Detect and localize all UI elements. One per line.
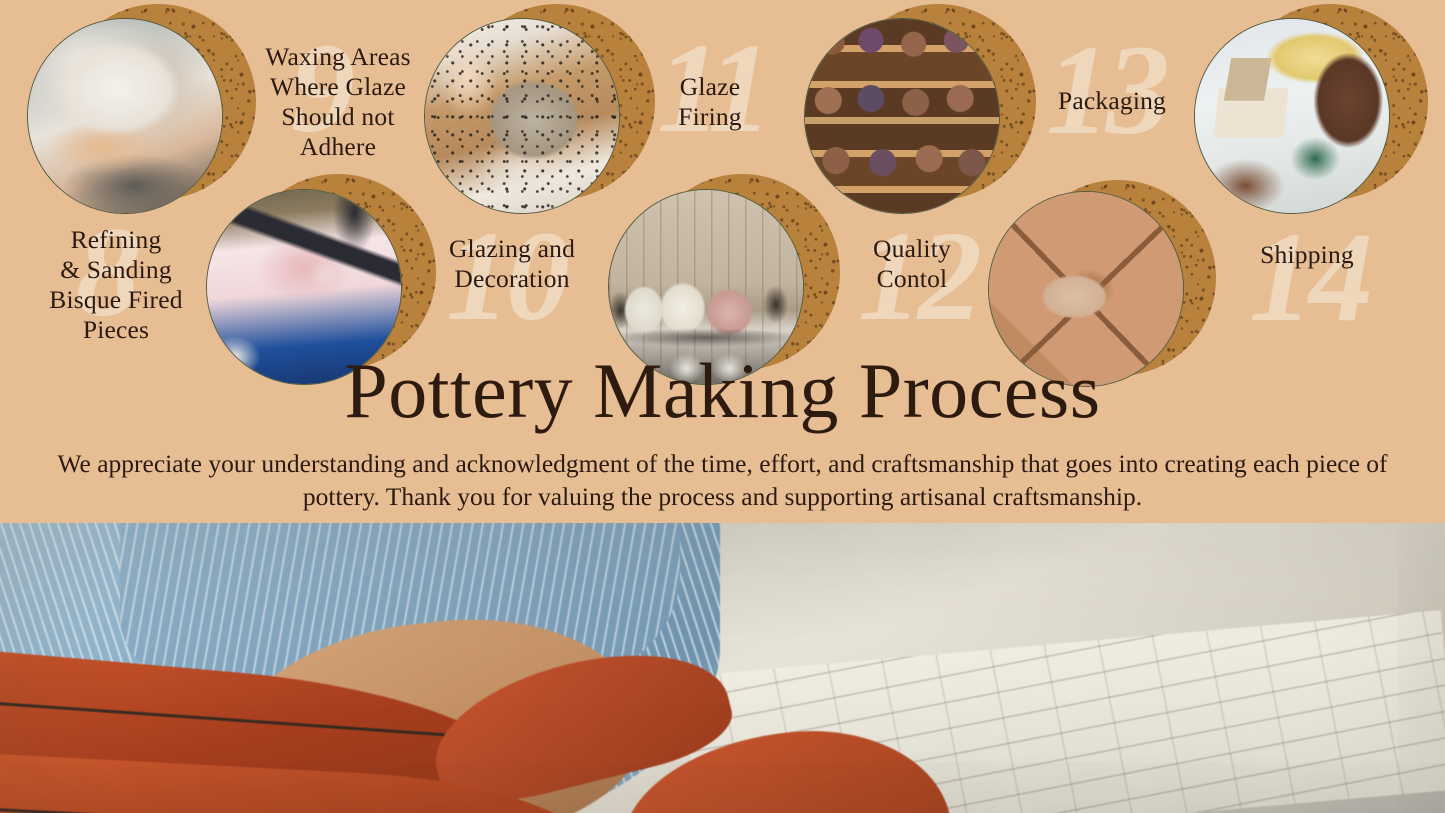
step-photo-glaze-firing xyxy=(424,18,620,214)
hero-photo-kiln-gloves xyxy=(0,523,1445,813)
footer-paragraph: We appreciate your understanding and ack… xyxy=(26,448,1419,513)
step-label-quality: Quality Contol xyxy=(828,234,996,294)
step-label-glaze-firing: Glaze Firing xyxy=(630,72,790,132)
step-label-waxing: Waxing Areas Where Glaze Should not Adhe… xyxy=(243,42,433,162)
step-photo-waxing xyxy=(27,18,223,214)
step-label-refining: Refining & Sanding Bisque Fired Pieces xyxy=(18,225,214,345)
infographic-top-area: 9 Waxing Areas Where Glaze Should not Ad… xyxy=(0,0,1445,523)
step-photo-packaging xyxy=(804,18,1000,214)
page-title: Pottery Making Process xyxy=(0,352,1445,430)
step-number-14: 14 xyxy=(1249,213,1369,341)
step-label-shipping: Shipping xyxy=(1214,240,1400,270)
pottery-process-poster: 9 Waxing Areas Where Glaze Should not Ad… xyxy=(0,0,1445,813)
step-label-glazing: Glazing and Decoration xyxy=(420,234,604,294)
step-label-packaging: Packaging xyxy=(1020,86,1204,116)
step-photo-package-handoff xyxy=(1194,18,1390,214)
